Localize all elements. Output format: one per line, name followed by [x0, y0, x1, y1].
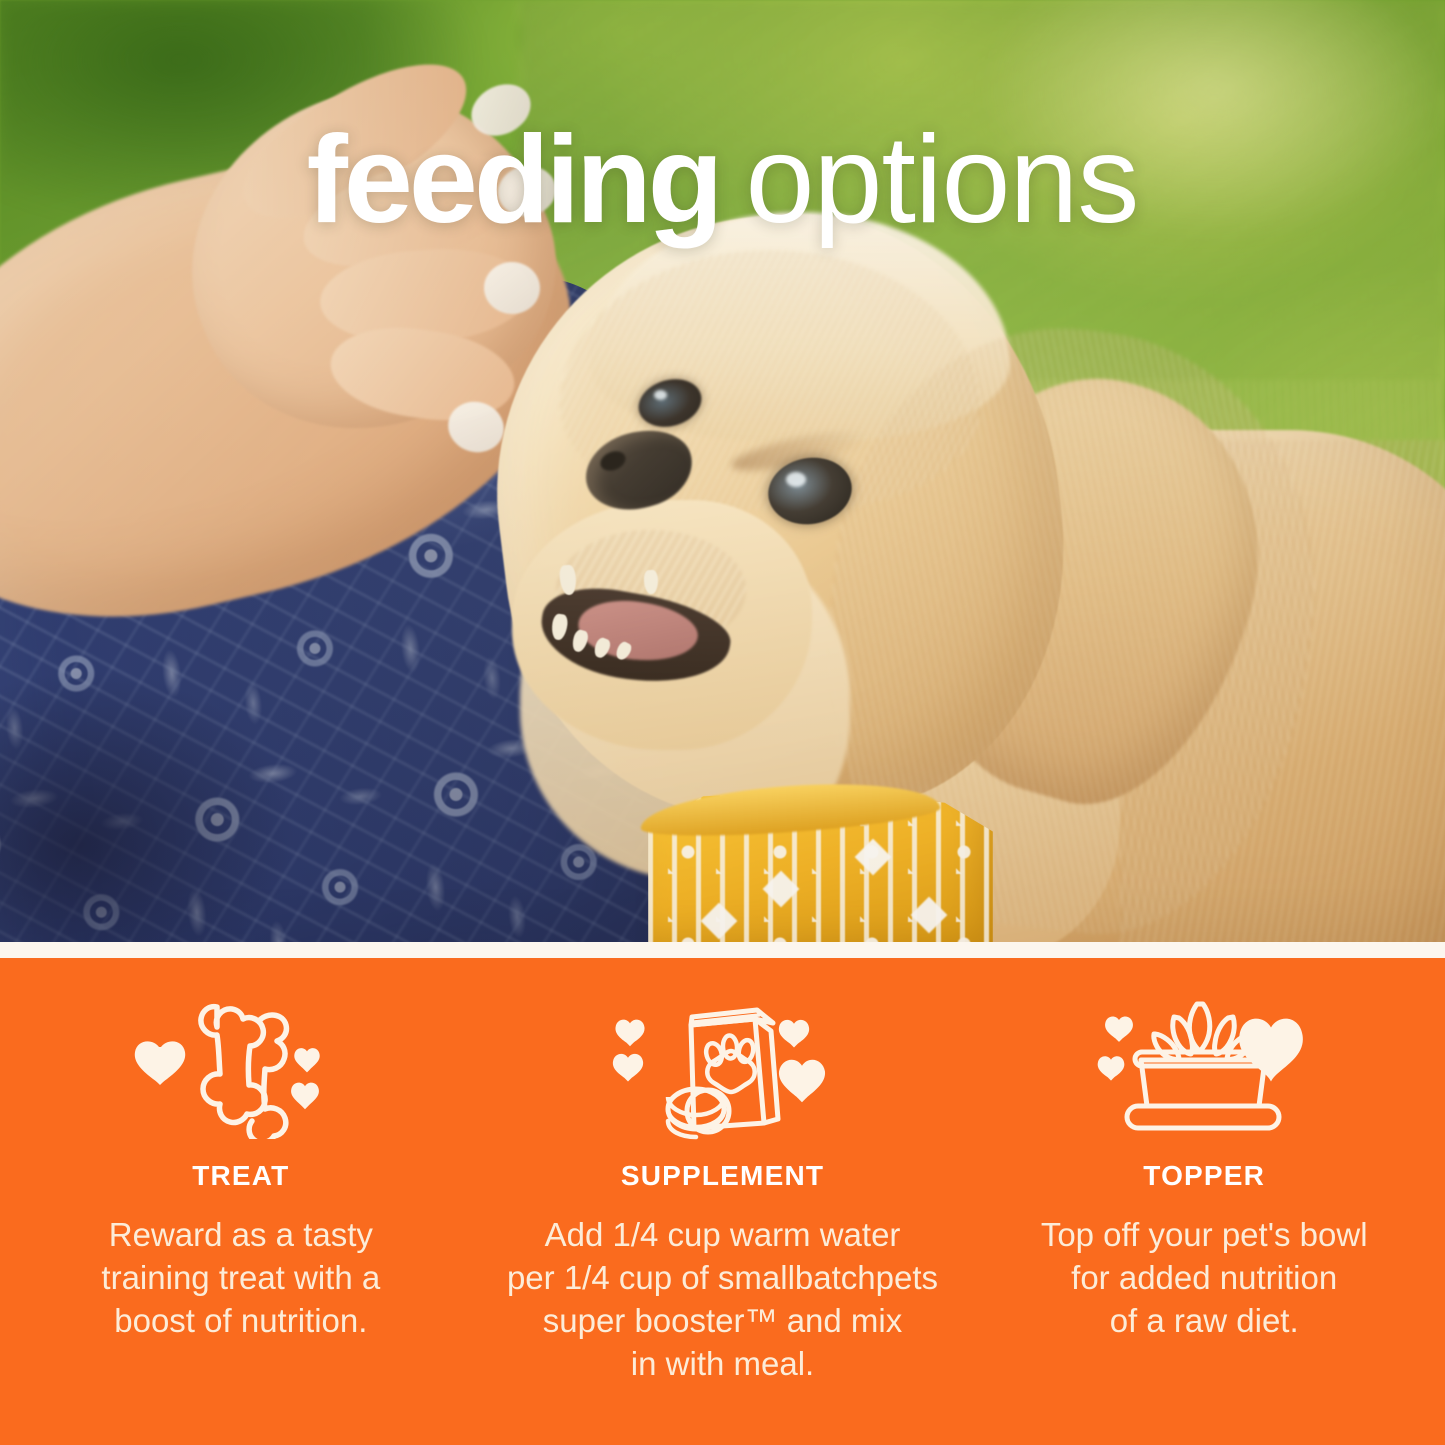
option-body-treat: Reward as a tasty training treat with a … [76, 1214, 406, 1343]
option-body-topper: Top off your pet's bowl for added nutrit… [1004, 1214, 1404, 1343]
option-title-treat: TREAT [192, 1160, 289, 1192]
food-bowl-icon [1089, 994, 1319, 1144]
option-title-supplement: SUPPLEMENT [621, 1160, 824, 1192]
option-column-supplement: SUPPLEMENT Add 1/4 cup warm water per 1/… [482, 958, 964, 1386]
title-word-options: options [746, 111, 1139, 249]
dog-bone-icon [126, 994, 356, 1144]
option-body-supplement: Add 1/4 cup warm water per 1/4 cup of sm… [485, 1214, 960, 1386]
options-columns: TREAT Reward as a tasty training treat w… [0, 958, 1445, 1445]
option-column-topper: TOPPER Top off your pet's bowl for added… [963, 958, 1445, 1343]
option-column-treat: TREAT Reward as a tasty training treat w… [0, 958, 482, 1343]
section-divider [0, 942, 1445, 958]
page-title: feedingoptions [0, 118, 1445, 242]
hero-photo: feedingoptions [0, 0, 1445, 942]
dog-eye-highlight [786, 472, 806, 487]
feeding-options-infographic: feedingoptions [0, 0, 1445, 1445]
food-bag-icon [608, 994, 838, 1144]
dog-eye-highlight [654, 390, 667, 400]
option-title-topper: TOPPER [1143, 1160, 1265, 1192]
feeding-options-panel: TREAT Reward as a tasty training treat w… [0, 958, 1445, 1445]
title-word-feeding: feeding [307, 111, 720, 249]
